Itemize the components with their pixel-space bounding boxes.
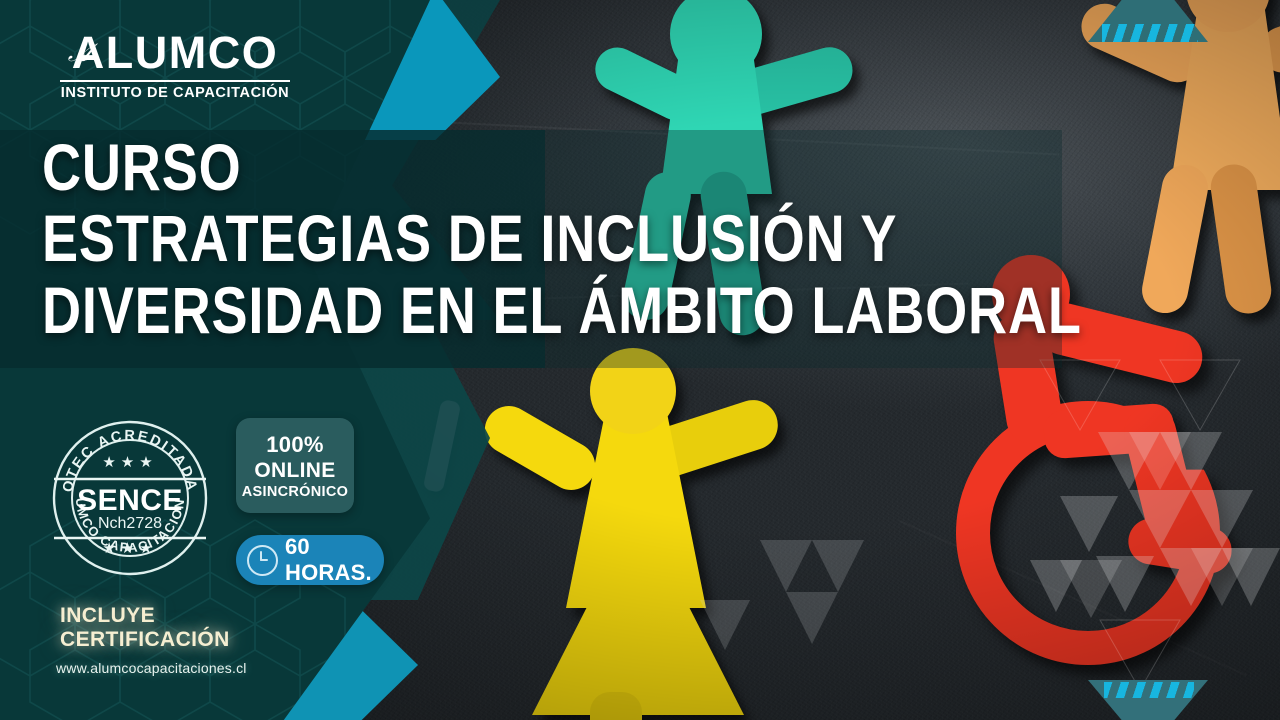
- badge-detail: ASINCRÓNICO: [242, 484, 348, 500]
- badge-online-modality: 100% ONLINE ASINCRÓNICO: [236, 418, 354, 513]
- seal-code: Nch2728: [98, 515, 162, 532]
- stripes-icon-bottom-right: [1104, 682, 1194, 698]
- seal-title: SENCE: [77, 484, 183, 517]
- logo-wordmark-rest: LUMCO: [106, 27, 278, 78]
- seal-stars-bottom: ★★★: [102, 540, 157, 557]
- badge-duration: 60 HORAS.: [236, 535, 384, 585]
- page-title: CURSO ESTRATEGIAS DE INCLUSIÓN Y DIVERSI…: [42, 136, 1280, 342]
- course-promo-banner: 𝒜ALUMCO INSTITUTO DE CAPACITACIÓN CURSO …: [0, 0, 1280, 720]
- seal-stars-top: ★★★: [102, 454, 157, 471]
- badge-mode: ONLINE: [254, 459, 335, 483]
- headline-line-3: DIVERSIDAD EN EL ÁMBITO LABORAL: [42, 279, 1082, 342]
- badge-percent: 100%: [266, 432, 323, 458]
- headline-line-1: CURSO: [42, 136, 1082, 199]
- sence-accreditation-seal: OTEC ACREDITADA ALUMCO CAPACITACIONES ★★…: [50, 418, 210, 578]
- certification-line-2: CERTIFICACIÓN: [60, 628, 230, 652]
- logo-letter-a: 𝒜A: [72, 30, 106, 75]
- logo-wordmark: 𝒜ALUMCO: [60, 30, 290, 75]
- certification-line-1: INCLUYE: [60, 604, 230, 628]
- logo-divider: [60, 80, 290, 82]
- clock-icon: [247, 545, 278, 576]
- alumco-logo[interactable]: 𝒜ALUMCO INSTITUTO DE CAPACITACIÓN: [60, 30, 290, 101]
- logo-flourish-icon: 𝒜: [68, 41, 93, 66]
- stripes-icon-top-right: [1102, 24, 1198, 42]
- headline-line-2: ESTRATEGIAS DE INCLUSIÓN Y: [42, 207, 1082, 270]
- badge-hours-label: 60 HORAS.: [285, 534, 384, 586]
- certification-note: INCLUYE CERTIFICACIÓN: [60, 604, 230, 651]
- website-url[interactable]: www.alumcocapacitaciones.cl: [56, 660, 247, 676]
- logo-subtitle: INSTITUTO DE CAPACITACIÓN: [60, 85, 290, 101]
